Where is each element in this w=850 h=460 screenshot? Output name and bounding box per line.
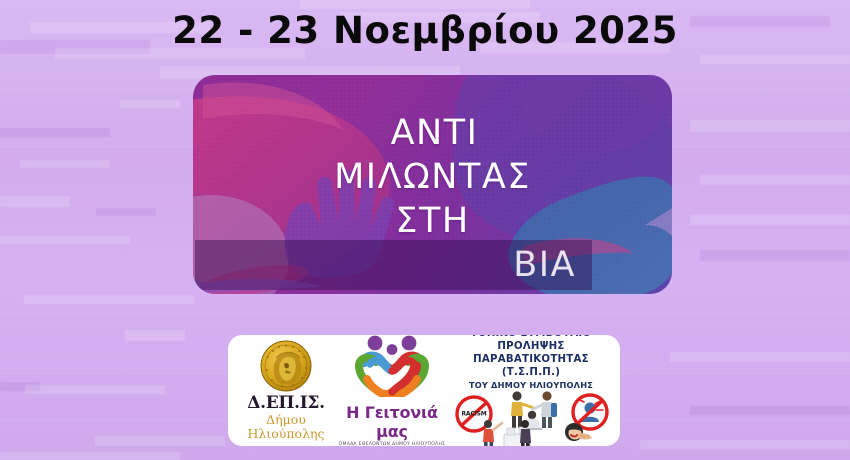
coin-emblem-icon — [260, 340, 312, 392]
event-date-title: 22 - 23 Νοεμβρίου 2025 — [0, 9, 850, 52]
depis-logo-block: Δ.ΕΠ.ΙΣ. Δήμου Ηλιούπολης — [234, 340, 338, 441]
depis-city-line-1: Δήμου — [234, 413, 338, 427]
depis-coin-wrap — [234, 340, 338, 392]
campaign-card: ΑΝΤΙ ΜΙΛΩΝΤΑΣ ΣΤΗ ΒΙΑ — [193, 75, 672, 294]
sponsor-logo-bar: Δ.ΕΠ.ΙΣ. Δήμου Ηλιούπολης — [228, 335, 620, 446]
tspp-block: ΤΟΠΙΚΟ ΣΥΜΒΟΥΛΙΟ ΠΡΟΛΗΨΗΣ ΠΑΡΑΒΑΤΙΚΟΤΗΤΑ… — [446, 335, 614, 446]
tspp-icon-cluster: RACISM — [448, 392, 614, 446]
neighbourhood-title: Η Γειτονιά μας — [338, 403, 446, 441]
conflict-figures — [476, 418, 548, 446]
neighbourhood-subtitle: ΟΜΑΔΑ ΕΘΕΛΟΝΤΩΝ ΔΗΜΟΥ ΗΛΙΟΥΠΟΛΗΣ — [338, 442, 446, 447]
silenced-figure — [556, 420, 598, 446]
violence-word-band: ΒΙΑ — [195, 240, 592, 290]
vandalism-scene-icon — [476, 418, 548, 446]
headline-word-bia: ΒΙΑ — [513, 240, 576, 290]
headline-line-2: ΜΙΛΩΝΤΑΣ — [193, 155, 672, 199]
tspp-line-1: ΤΟΠΙΚΟ ΣΥΜΒΟΥΛΙΟ ΠΡΟΛΗΨΗΣ — [448, 335, 614, 353]
tspp-line-2: ΠΑΡΑΒΑΤΙΚΟΤΗΤΑΣ (Τ.Σ.Π.Π.) — [448, 353, 614, 379]
campaign-headline: ΑΝΤΙ ΜΙΛΩΝΤΑΣ ΣΤΗ — [193, 111, 672, 243]
silenced-person-icon — [556, 420, 598, 446]
neighbourhood-logo-block: Η Γειτονιά μας ΟΜΑΔΑ ΕΘΕΛΟΝΤΩΝ ΔΗΜΟΥ ΗΛΙ… — [338, 335, 446, 446]
depis-city-line-2: Ηλιούπολης — [234, 427, 338, 441]
depis-abbreviation: Δ.ΕΠ.ΙΣ. — [234, 393, 338, 413]
racism-word-label: RACISM — [462, 411, 487, 418]
headline-line-1: ΑΝΤΙ — [193, 111, 672, 155]
heart-people-logo-icon — [355, 335, 429, 397]
poster-canvas: 22 - 23 Νοεμβρίου 2025 — [0, 0, 850, 460]
headline-line-3: ΣΤΗ — [193, 199, 672, 243]
